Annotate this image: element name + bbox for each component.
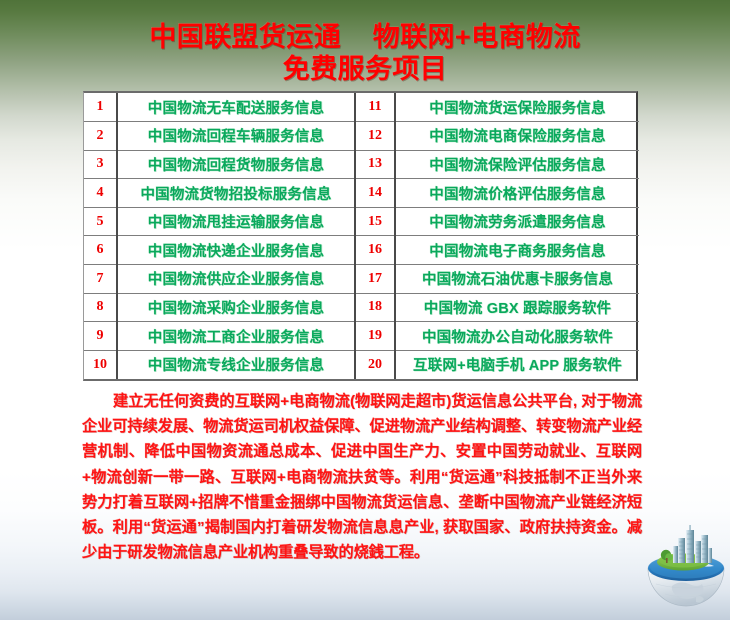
- row-number-left: 7: [84, 265, 117, 294]
- row-number-left: 10: [84, 350, 117, 379]
- services-table: 1中国物流无车配送服务信息11中国物流货运保险服务信息2中国物流回程车辆服务信息…: [84, 93, 639, 379]
- row-number-left: 4: [84, 179, 117, 208]
- row-number-right: 20: [355, 350, 395, 379]
- table-row: 5中国物流甩挂运输服务信息15中国物流劳务派遣服务信息: [84, 207, 639, 236]
- service-item-left[interactable]: 中国物流货物招投标服务信息: [117, 179, 355, 208]
- services-table-container: 1中国物流无车配送服务信息11中国物流货运保险服务信息2中国物流回程车辆服务信息…: [83, 91, 638, 381]
- service-item-left[interactable]: 中国物流回程货物服务信息: [117, 150, 355, 179]
- service-item-right[interactable]: 中国物流 GBX 跟踪服务软件: [395, 293, 639, 322]
- service-item-right[interactable]: 中国物流石油优惠卡服务信息: [395, 265, 639, 294]
- row-number-right: 14: [355, 179, 395, 208]
- table-row: 7中国物流供应企业服务信息17中国物流石油优惠卡服务信息: [84, 265, 639, 294]
- service-item-left[interactable]: 中国物流采购企业服务信息: [117, 293, 355, 322]
- table-row: 2中国物流回程车辆服务信息12中国物流电商保险服务信息: [84, 122, 639, 151]
- row-number-left: 6: [84, 236, 117, 265]
- service-item-right[interactable]: 中国物流电子商务服务信息: [395, 236, 639, 265]
- title-line-2: 免费服务项目: [0, 54, 730, 86]
- service-item-left[interactable]: 中国物流工商企业服务信息: [117, 322, 355, 351]
- table-row: 9中国物流工商企业服务信息19中国物流办公自动化服务软件: [84, 322, 639, 351]
- row-number-right: 18: [355, 293, 395, 322]
- service-item-left[interactable]: 中国物流甩挂运输服务信息: [117, 207, 355, 236]
- service-item-left[interactable]: 中国物流快递企业服务信息: [117, 236, 355, 265]
- title-line-1: 中国联盟货运通 物联网+电商物流: [0, 22, 730, 54]
- row-number-left: 1: [84, 93, 117, 122]
- row-number-right: 17: [355, 265, 395, 294]
- row-number-left: 5: [84, 207, 117, 236]
- table-row: 10中国物流专线企业服务信息20互联网+电脑手机 APP 服务软件: [84, 350, 639, 379]
- slide-canvas: 中国联盟货运通 物联网+电商物流 免费服务项目 1中国物流无车配送服务信息11中…: [0, 0, 730, 620]
- row-number-right: 16: [355, 236, 395, 265]
- row-number-right: 15: [355, 207, 395, 236]
- service-item-left[interactable]: 中国物流供应企业服务信息: [117, 265, 355, 294]
- row-number-right: 11: [355, 93, 395, 122]
- row-number-left: 2: [84, 122, 117, 151]
- table-row: 6中国物流快递企业服务信息16中国物流电子商务服务信息: [84, 236, 639, 265]
- service-item-right[interactable]: 中国物流货运保险服务信息: [395, 93, 639, 122]
- row-number-left: 9: [84, 322, 117, 351]
- service-item-right[interactable]: 中国物流电商保险服务信息: [395, 122, 639, 151]
- service-item-right[interactable]: 互联网+电脑手机 APP 服务软件: [395, 350, 639, 379]
- description-paragraph: 建立无任何资费的互联网+电商物流(物联网走超市)货运信息公共平台, 对于物流企业…: [82, 389, 642, 565]
- page-title: 中国联盟货运通 物联网+电商物流 免费服务项目: [0, 22, 730, 86]
- row-number-left: 8: [84, 293, 117, 322]
- row-number-right: 12: [355, 122, 395, 151]
- table-row: 3中国物流回程货物服务信息13中国物流保险评估服务信息: [84, 150, 639, 179]
- row-number-left: 3: [84, 150, 117, 179]
- service-item-left[interactable]: 中国物流回程车辆服务信息: [117, 122, 355, 151]
- services-table-body: 1中国物流无车配送服务信息11中国物流货运保险服务信息2中国物流回程车辆服务信息…: [84, 93, 639, 379]
- row-number-right: 13: [355, 150, 395, 179]
- row-number-right: 19: [355, 322, 395, 351]
- table-row: 4中国物流货物招投标服务信息14中国物流价格评估服务信息: [84, 179, 639, 208]
- service-item-left[interactable]: 中国物流无车配送服务信息: [117, 93, 355, 122]
- service-item-right[interactable]: 中国物流办公自动化服务软件: [395, 322, 639, 351]
- service-item-right[interactable]: 中国物流价格评估服务信息: [395, 179, 639, 208]
- table-row: 8中国物流采购企业服务信息18中国物流 GBX 跟踪服务软件: [84, 293, 639, 322]
- table-row: 1中国物流无车配送服务信息11中国物流货运保险服务信息: [84, 93, 639, 122]
- service-item-left[interactable]: 中国物流专线企业服务信息: [117, 350, 355, 379]
- earth-globe-icon: [642, 524, 730, 614]
- service-item-right[interactable]: 中国物流保险评估服务信息: [395, 150, 639, 179]
- service-item-right[interactable]: 中国物流劳务派遣服务信息: [395, 207, 639, 236]
